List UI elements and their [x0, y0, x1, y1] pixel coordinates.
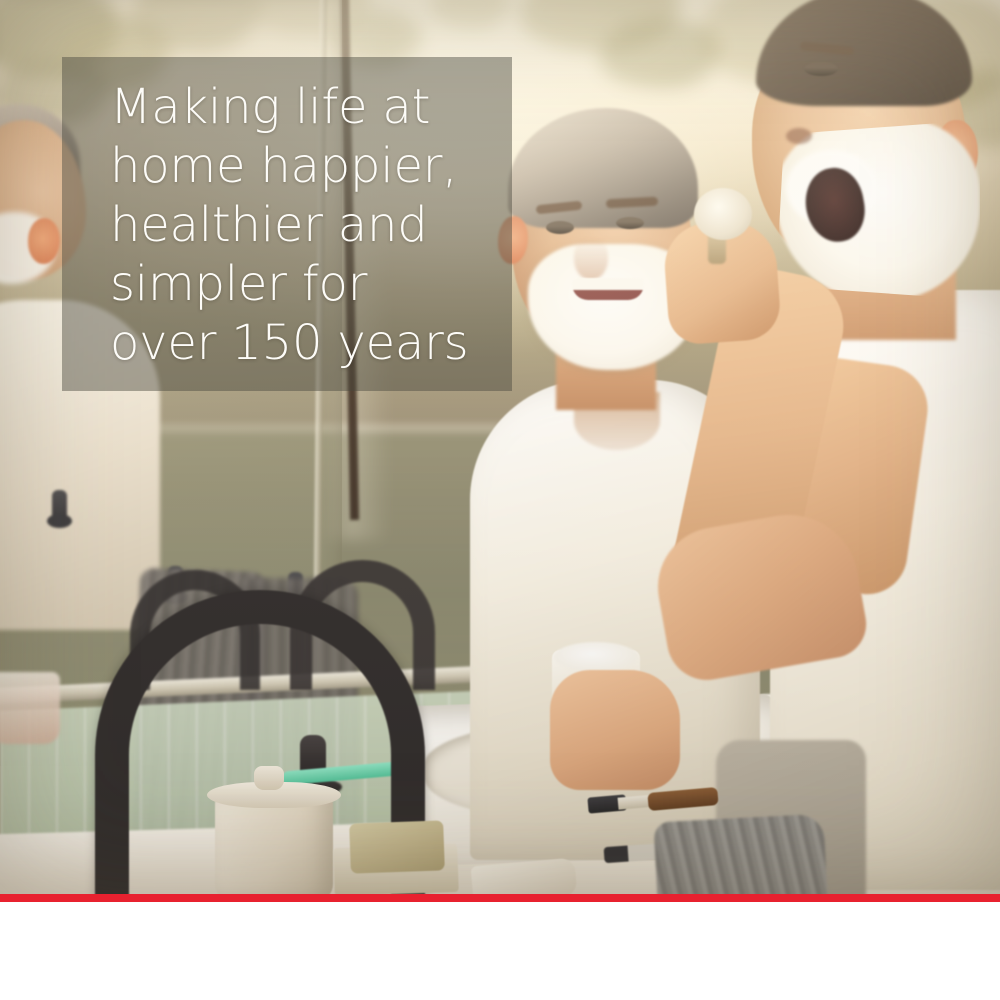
mirrored-cup: [0, 672, 60, 744]
son-nose: [786, 128, 812, 144]
son-hair: [756, 0, 972, 106]
father-eye: [616, 217, 644, 229]
father-nose: [574, 238, 608, 280]
father-hand: [550, 670, 680, 790]
shaving-brush-head: [694, 188, 752, 240]
shaving-cream-foam: [554, 642, 638, 672]
hand-towel: [653, 814, 828, 894]
ceramic-jar-knob: [254, 766, 284, 790]
son-eye: [804, 62, 838, 76]
brand-red-divider: [0, 894, 1000, 902]
soap-bar: [349, 820, 445, 873]
father-smile: [572, 278, 644, 300]
hero-photo: Making life at home happier, healthier a…: [0, 0, 1000, 894]
headline-text: Making life at home happier, healthier a…: [110, 78, 510, 373]
footer-bar: American Standard: [0, 902, 1000, 1000]
father-eye: [546, 221, 574, 234]
ad-creative: Making life at home happier, healthier a…: [0, 0, 1000, 1000]
